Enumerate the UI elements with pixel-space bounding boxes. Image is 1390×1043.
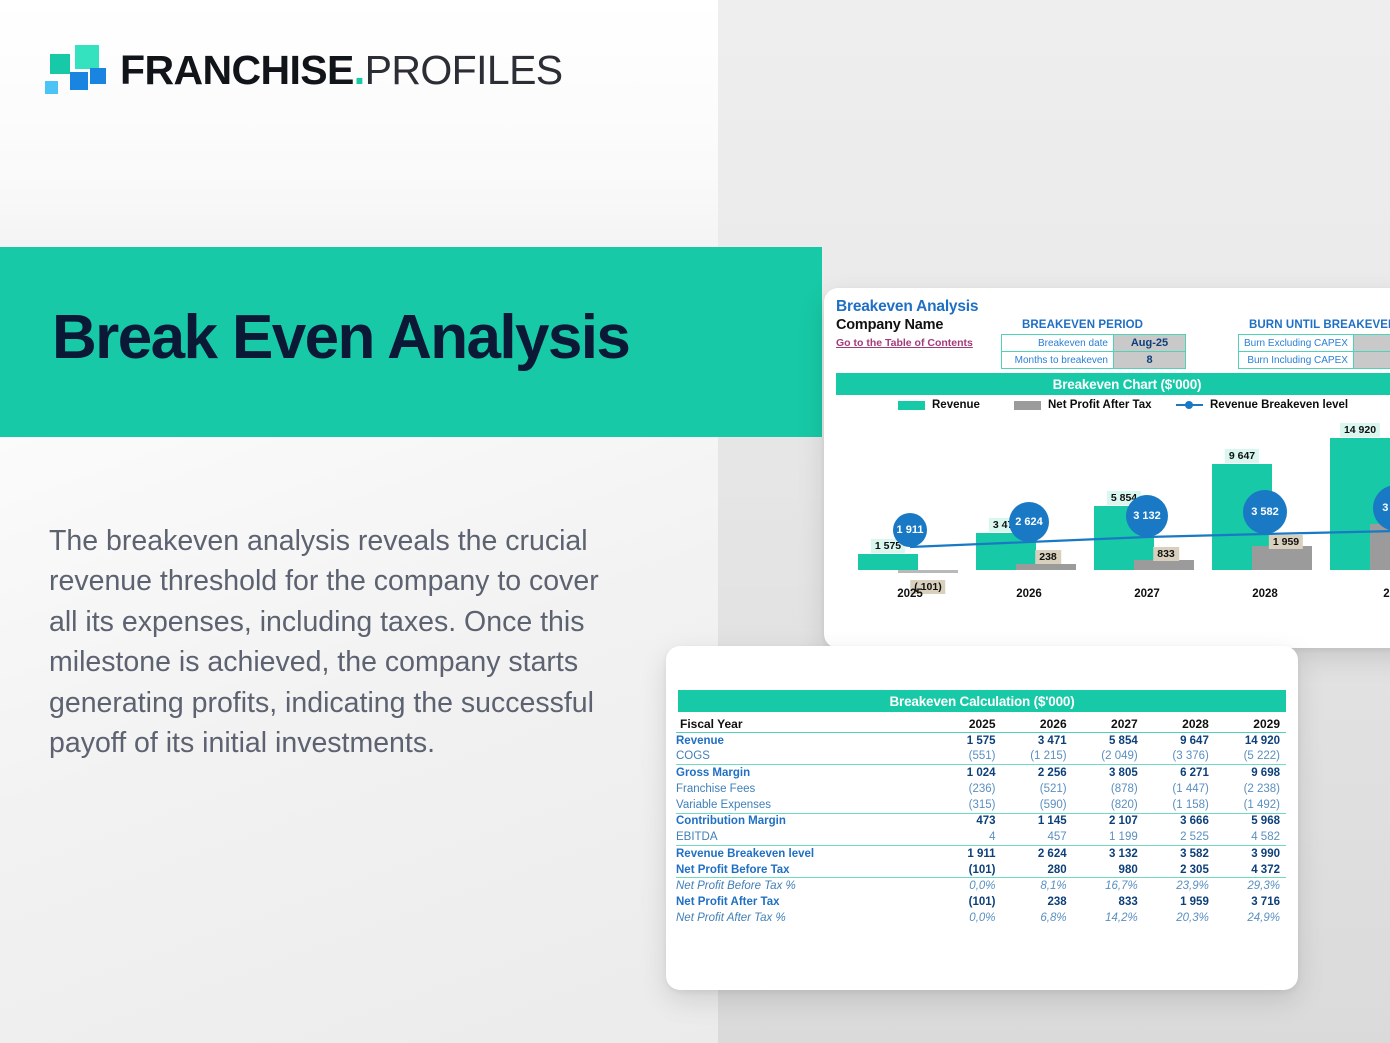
cell: 980	[1073, 862, 1144, 878]
table-row: Gross Margin 1 024 2 256 3 805 6 271 9 6…	[676, 765, 1286, 781]
cell: (1 447)	[1144, 781, 1215, 797]
cell: 4	[930, 829, 1001, 845]
brand-name-light: PROFILES	[365, 47, 563, 93]
row-label: Net Profit After Tax	[676, 894, 930, 910]
sheet-header: Breakeven Analysis Company Name Go to th…	[836, 298, 978, 351]
row-label: Franchise Fees	[676, 781, 930, 797]
cell: 24,9%	[1215, 910, 1286, 926]
burn-until-breakeven-table: Burn Excluding CAPEX Burn Including CAPE…	[1238, 334, 1390, 369]
cell: 8,1%	[1002, 878, 1073, 894]
cell: 29,3%	[1215, 878, 1286, 894]
breakeven-period-heading: BREAKEVEN PERIOD	[1022, 319, 1143, 331]
months-to-breakeven-value[interactable]: 8	[1114, 352, 1186, 369]
cell: 2 624	[1002, 846, 1073, 862]
breakeven-chart-plot: 1 575 ( 101) 1 911 3 471 238 2 624 5 854…	[836, 422, 1390, 600]
row-label: Variable Expenses	[676, 797, 930, 813]
row-label: EBITDA	[676, 829, 930, 845]
row-label: Net Profit Before Tax	[676, 862, 930, 878]
legend-item-revenue-breakeven-level[interactable]: Revenue Breakeven level	[1176, 399, 1348, 411]
cell: (3 376)	[1144, 748, 1215, 764]
cell: (878)	[1073, 781, 1144, 797]
breakeven-level-line	[836, 422, 1390, 570]
cell: 6 271	[1144, 765, 1215, 781]
cell: 1 024	[930, 765, 1001, 781]
cell: 0,0%	[930, 878, 1001, 894]
cell: 6,8%	[1002, 910, 1073, 926]
row-label: Gross Margin	[676, 765, 930, 781]
table-row: EBITDA 4 457 1 199 2 525 4 582	[676, 829, 1286, 845]
legend-swatch-bar-icon	[1014, 401, 1041, 410]
cell: 2 305	[1144, 862, 1215, 878]
brand-name-bold: FRANCHISE	[120, 47, 354, 93]
slide-canvas: FRANCHISE.PROFILES Break Even Analysis T…	[0, 0, 1390, 1043]
page-title: Break Even Analysis	[52, 305, 629, 370]
cell: 473	[930, 813, 1001, 829]
breakeven-period-table: Breakeven date Aug-25 Months to breakeve…	[1001, 334, 1186, 369]
legend-swatch-bar-icon	[898, 401, 925, 410]
breakeven-calculation-card: Breakeven Calculation ($'000) Fiscal Yea…	[666, 646, 1298, 990]
cell: 1 199	[1073, 829, 1144, 845]
breakeven-calculation-table: Fiscal Year 2025 2026 2027 2028 2029 Rev…	[676, 716, 1286, 926]
sheet-title: Breakeven Analysis	[836, 298, 978, 316]
cell: (521)	[1002, 781, 1073, 797]
cell: (1 215)	[1002, 748, 1073, 764]
cell: 2 525	[1144, 829, 1215, 845]
cell: (101)	[930, 894, 1001, 910]
brand-wordmark: FRANCHISE.PROFILES	[120, 50, 563, 91]
row-label: Net Profit Before Tax %	[676, 878, 930, 894]
x-tick-2029: 2029	[1383, 588, 1390, 600]
breakeven-date-value[interactable]: Aug-25	[1114, 335, 1186, 352]
breakeven-chart-card: Breakeven Analysis Company Name Go to th…	[824, 288, 1390, 648]
cell: (1 158)	[1144, 797, 1215, 813]
x-tick-2028: 2028	[1252, 588, 1278, 600]
cell: 1 145	[1002, 813, 1073, 829]
column-header-2029: 2029	[1215, 716, 1286, 732]
table-row: Net Profit After Tax % 0,0% 6,8% 14,2% 2…	[676, 910, 1286, 926]
plot-area: 1 575 ( 101) 1 911 3 471 238 2 624 5 854…	[836, 422, 1390, 570]
cell: 0,0%	[930, 910, 1001, 926]
cell: (315)	[930, 797, 1001, 813]
legend-label: Revenue	[932, 399, 980, 411]
cell: 4 372	[1215, 862, 1286, 878]
cell: 16,7%	[1073, 878, 1144, 894]
logo-squares-icon	[44, 44, 104, 96]
cell: 3 805	[1073, 765, 1144, 781]
legend-swatch-line-marker-icon	[1176, 401, 1203, 410]
background-panel-top-left	[0, 0, 718, 247]
burn-including-capex-label: Burn Including CAPEX	[1239, 352, 1354, 369]
table-row: Burn Including CAPEX	[1239, 352, 1390, 369]
table-row: Contribution Margin 473 1 145 2 107 3 66…	[676, 813, 1286, 829]
cell: 2 107	[1073, 813, 1144, 829]
cell: (590)	[1002, 797, 1073, 813]
legend-item-revenue[interactable]: Revenue	[898, 399, 980, 411]
column-header-2027: 2027	[1073, 716, 1144, 732]
table-row: Net Profit After Tax (101) 238 833 1 959…	[676, 894, 1286, 910]
table-row: Franchise Fees (236) (521) (878) (1 447)…	[676, 781, 1286, 797]
cell: (1 492)	[1215, 797, 1286, 813]
table-body: Revenue 1 575 3 471 5 854 9 647 14 920 C…	[676, 732, 1286, 926]
cell: (820)	[1073, 797, 1144, 813]
cell: 1 911	[930, 846, 1001, 862]
burn-until-breakeven-heading: BURN UNTIL BREAKEVEN	[1249, 319, 1390, 331]
cell: 4 582	[1215, 829, 1286, 845]
table-row: Net Profit Before Tax (101) 280 980 2 30…	[676, 862, 1286, 878]
cell: 5 854	[1073, 732, 1144, 748]
column-header-fiscal-year: Fiscal Year	[676, 716, 930, 732]
cell: (2 049)	[1073, 748, 1144, 764]
breakeven-date-label: Breakeven date	[1002, 335, 1114, 352]
cell: 3 716	[1215, 894, 1286, 910]
cell: 5 968	[1215, 813, 1286, 829]
row-label: Revenue	[676, 732, 930, 748]
cell: 14 920	[1215, 732, 1286, 748]
cell: 238	[1002, 894, 1073, 910]
table-row: Net Profit Before Tax % 0,0% 8,1% 16,7% …	[676, 878, 1286, 894]
cell: 23,9%	[1144, 878, 1215, 894]
brand-dot: .	[354, 47, 365, 93]
table-row: COGS (551) (1 215) (2 049) (3 376) (5 22…	[676, 748, 1286, 764]
cell: (551)	[930, 748, 1001, 764]
cell: 1 959	[1144, 894, 1215, 910]
cell: 3 132	[1073, 846, 1144, 862]
bar-npat-2025[interactable]	[898, 570, 958, 573]
cell: 14,2%	[1073, 910, 1144, 926]
table-header-row: Fiscal Year 2025 2026 2027 2028 2029	[676, 716, 1286, 732]
column-header-2025: 2025	[930, 716, 1001, 732]
burn-excluding-capex-value[interactable]	[1353, 335, 1390, 352]
chart-band-title: Breakeven Chart ($'000)	[836, 373, 1390, 395]
row-label: Contribution Margin	[676, 813, 930, 829]
cell: (5 222)	[1215, 748, 1286, 764]
cell: 457	[1002, 829, 1073, 845]
table-row: Revenue 1 575 3 471 5 854 9 647 14 920	[676, 732, 1286, 748]
table-row: Revenue Breakeven level 1 911 2 624 3 13…	[676, 846, 1286, 862]
months-to-breakeven-label: Months to breakeven	[1002, 352, 1114, 369]
burn-excluding-capex-label: Burn Excluding CAPEX	[1239, 335, 1354, 352]
table-band-title: Breakeven Calculation ($'000)	[678, 690, 1286, 712]
cell: (2 238)	[1215, 781, 1286, 797]
cell: (236)	[930, 781, 1001, 797]
column-header-2028: 2028	[1144, 716, 1215, 732]
x-tick-2025: 2025	[897, 588, 923, 600]
cell: 1 575	[930, 732, 1001, 748]
table-of-contents-link[interactable]: Go to the Table of Contents	[836, 337, 973, 349]
row-label: Revenue Breakeven level	[676, 846, 930, 862]
table-row: Variable Expenses (315) (590) (820) (1 1…	[676, 797, 1286, 813]
cell: 3 582	[1144, 846, 1215, 862]
cell: 3 666	[1144, 813, 1215, 829]
legend-label: Net Profit After Tax	[1048, 399, 1152, 411]
cell: 9 698	[1215, 765, 1286, 781]
column-header-2026: 2026	[1002, 716, 1073, 732]
cell: 3 990	[1215, 846, 1286, 862]
row-label: Net Profit After Tax %	[676, 910, 930, 926]
table-row: Breakeven date Aug-25	[1002, 335, 1186, 352]
chart-legend: Revenue Net Profit After Tax Revenue Bre…	[836, 398, 1390, 418]
cell: (101)	[930, 862, 1001, 878]
cell: 3 471	[1002, 732, 1073, 748]
table-row: Burn Excluding CAPEX	[1239, 335, 1390, 352]
cell: 9 647	[1144, 732, 1215, 748]
row-label: COGS	[676, 748, 930, 764]
x-tick-2026: 2026	[1016, 588, 1042, 600]
legend-label: Revenue Breakeven level	[1210, 399, 1348, 411]
x-tick-2027: 2027	[1134, 588, 1160, 600]
cell: 280	[1002, 862, 1073, 878]
burn-including-capex-value[interactable]	[1353, 352, 1390, 369]
cell: 20,3%	[1144, 910, 1215, 926]
company-name: Company Name	[836, 317, 978, 333]
cell: 833	[1073, 894, 1144, 910]
table-row: Months to breakeven 8	[1002, 352, 1186, 369]
body-paragraph: The breakeven analysis reveals the cruci…	[49, 521, 624, 764]
legend-item-net-profit-after-tax[interactable]: Net Profit After Tax	[1014, 399, 1152, 411]
cell: 2 256	[1002, 765, 1073, 781]
brand-logo[interactable]: FRANCHISE.PROFILES	[44, 44, 563, 96]
